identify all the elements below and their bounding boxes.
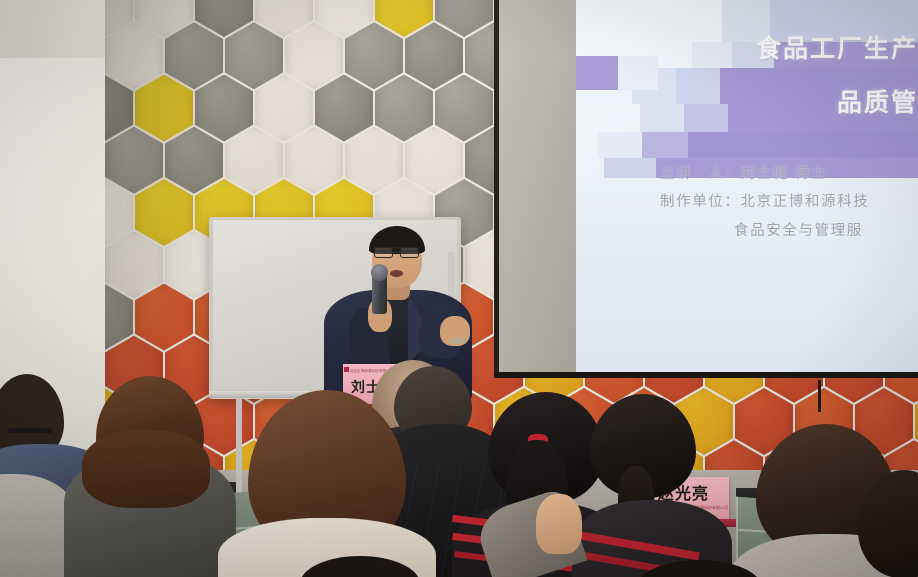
hex-panel xyxy=(255,75,313,142)
attendee-glasses-arm xyxy=(8,428,52,433)
hex-panel xyxy=(135,75,193,142)
hex-panel xyxy=(135,284,193,351)
hex-panel xyxy=(135,179,193,246)
hex-panel xyxy=(165,22,223,89)
hex-panel xyxy=(165,127,223,194)
hex-panel xyxy=(345,22,403,89)
slide-title-line-1: 食品工厂生产 xyxy=(666,33,918,65)
hex-panel xyxy=(285,22,343,89)
projection-screen: 食品工厂生产 品质管 主讲 人：刘士健 博士 制作单位：北京正博和源科技 食品安… xyxy=(576,0,918,372)
producer-label: 制作单位： xyxy=(660,194,741,210)
hex-panel xyxy=(285,127,343,194)
hex-panel xyxy=(225,127,283,194)
producer-name: 北京正博和源科技 xyxy=(741,194,870,210)
hex-panel xyxy=(315,75,373,142)
hex-panel xyxy=(105,22,163,89)
hex-panel xyxy=(405,127,463,194)
hex-panel xyxy=(375,75,433,142)
presenter-watch xyxy=(450,338,466,344)
seminar-photograph: 食品工厂生产 品质管 主讲 人：刘士健 博士 制作单位：北京正博和源科技 食品安… xyxy=(0,0,918,577)
hex-panel xyxy=(225,22,283,89)
hex-panel xyxy=(345,127,403,194)
slide-metadata: 主讲 人：刘士健 博士 制作单位：北京正博和源科技 食品安全与管理服 xyxy=(660,160,918,245)
slide-producer-line-2: 食品安全与管理服 xyxy=(660,217,918,245)
attendee-hair-strands xyxy=(82,430,210,508)
glasses-bridge xyxy=(393,251,400,253)
pillar-edge xyxy=(494,0,499,372)
glasses-lens-left xyxy=(374,247,393,258)
hex-panel xyxy=(105,127,163,194)
hex-panel xyxy=(105,231,163,298)
hex-panel xyxy=(405,22,463,89)
microphone-head xyxy=(371,264,388,281)
presenter-name: 刘士健 博士 xyxy=(741,166,828,182)
cable-drop xyxy=(818,380,821,412)
foreground-hand xyxy=(536,494,582,554)
slide-producer-line: 制作单位：北京正博和源科技 xyxy=(660,188,918,216)
glasses-lens-right xyxy=(400,247,419,258)
presenter-label: 主讲 人： xyxy=(660,166,741,182)
slide-title-line-2: 品质管 xyxy=(666,87,918,119)
placard-presenter-logo xyxy=(344,367,349,372)
slide-title-block: 食品工厂生产 品质管 xyxy=(666,33,918,118)
hex-panel xyxy=(435,75,493,142)
wall-pillar xyxy=(498,0,576,372)
presenter-mouth xyxy=(390,270,403,277)
hex-panel xyxy=(195,75,253,142)
slide-presenter-line: 主讲 人：刘士健 博士 xyxy=(660,160,918,188)
